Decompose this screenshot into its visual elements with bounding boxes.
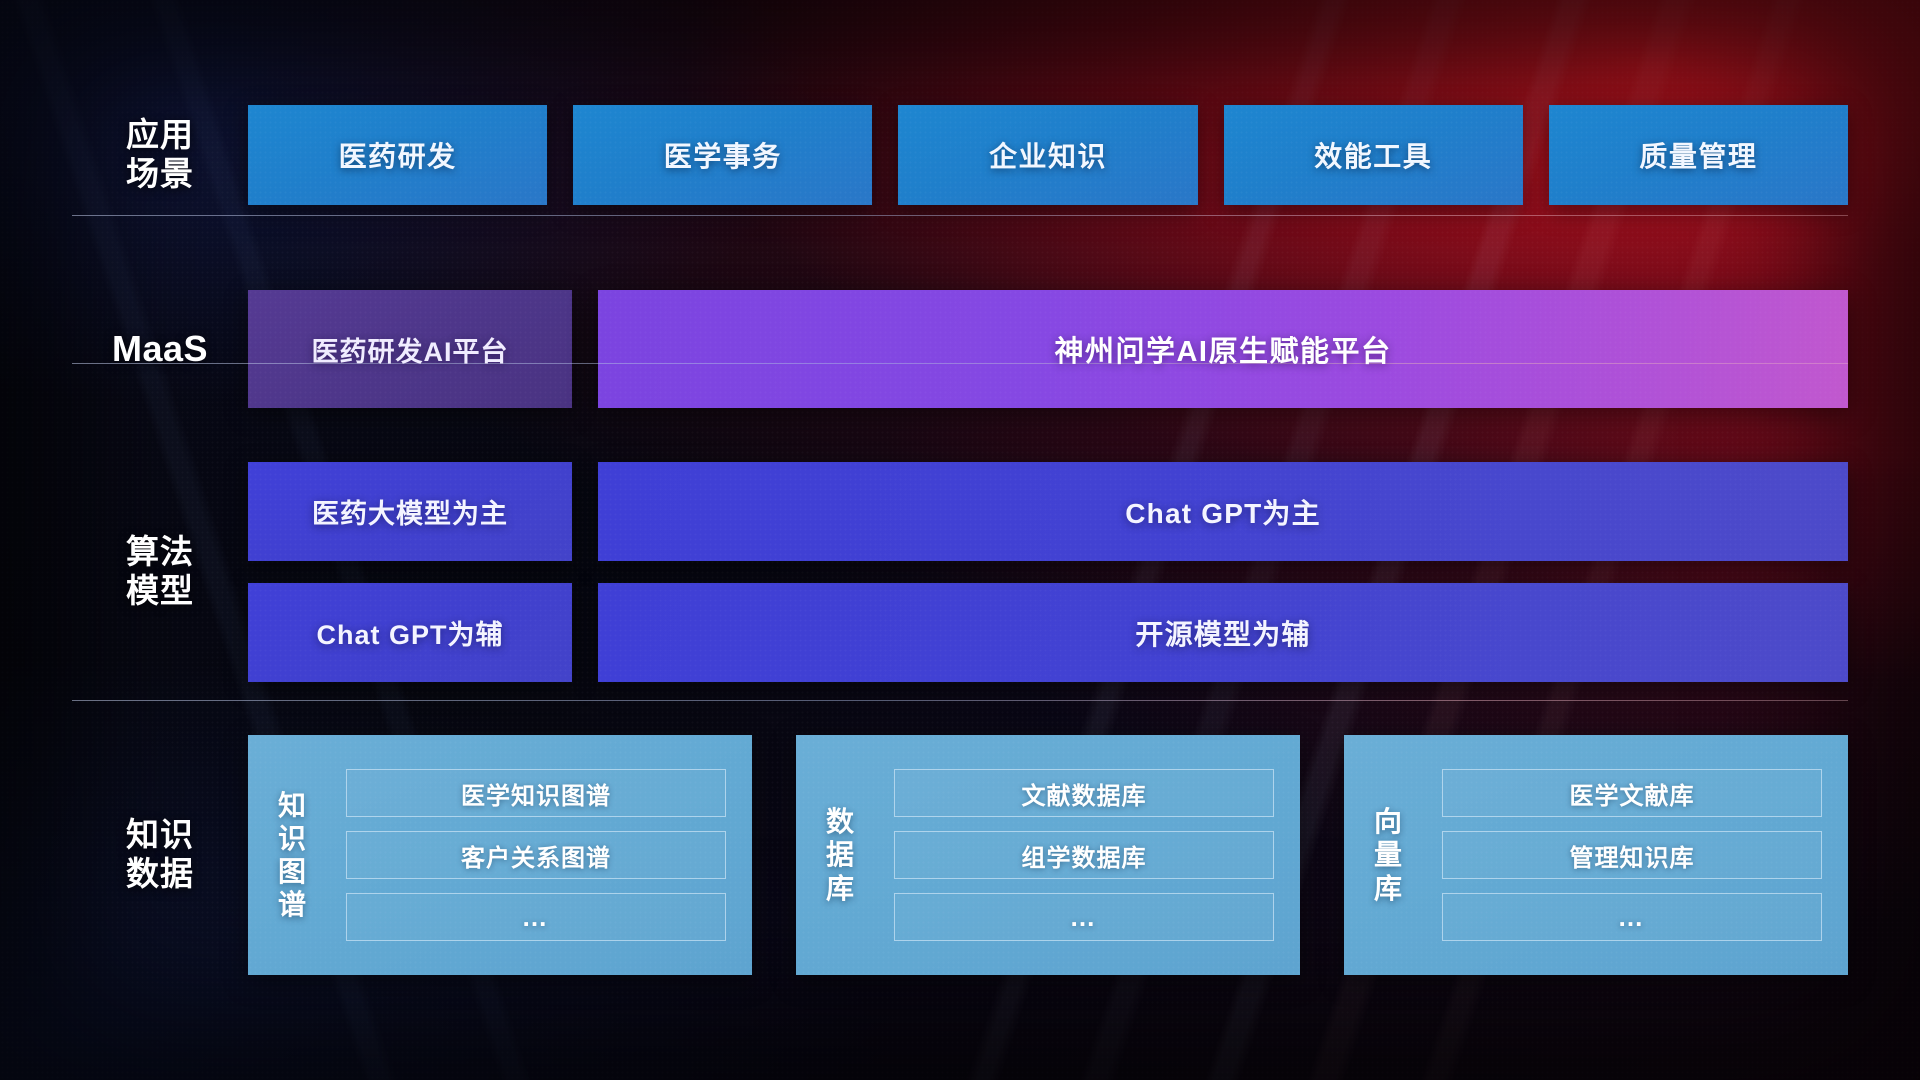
knowledge-group-vertical-label: 向 量 库 — [1344, 805, 1426, 904]
algorithm-line-primary: 医药大模型为主 Chat GPT为主 — [248, 462, 1848, 561]
knowledge-group-database[interactable]: 数 据 库 文献数据库 组学数据库 … — [796, 735, 1300, 975]
app-card-label: 效能工具 — [1314, 135, 1432, 175]
knowledge-item-more[interactable]: … — [346, 893, 726, 941]
divider-algorithm-knowledge — [72, 700, 1848, 701]
knowledge-group-items: 医学知识图谱 客户关系图谱 … — [330, 769, 752, 941]
app-card-drug-rd[interactable]: 医药研发 — [248, 105, 547, 205]
algo-card-label: Chat GPT为主 — [1125, 492, 1321, 532]
app-card-label: 医学事务 — [664, 135, 782, 175]
maas-card-shenzhou-wenxue-platform[interactable]: 神州问学AI原生赋能平台 — [598, 290, 1848, 408]
knowledge-group-vertical-label: 知 识 图 谱 — [248, 789, 330, 921]
app-card-efficiency-tools[interactable]: 效能工具 — [1224, 105, 1523, 205]
algo-card-opensource-secondary[interactable]: 开源模型为辅 — [598, 583, 1848, 682]
row-label-application-scenarios: 应用 场景 — [72, 116, 248, 194]
application-scenario-cards: 医药研发 医学事务 企业知识 效能工具 质量管理 — [248, 105, 1848, 205]
divider-applications-maas — [72, 215, 1848, 216]
knowledge-item-medical-knowledge-graph[interactable]: 医学知识图谱 — [346, 769, 726, 817]
knowledge-item-more[interactable]: … — [1442, 893, 1822, 941]
maas-card-label: 医药研发AI平台 — [312, 330, 509, 369]
algo-card-pharma-llm-primary[interactable]: 医药大模型为主 — [248, 462, 572, 561]
algorithm-model-cards: 医药大模型为主 Chat GPT为主 Chat GPT为辅 开源模型为辅 — [248, 462, 1848, 682]
maas-card-drug-rd-ai-platform[interactable]: 医药研发AI平台 — [248, 290, 572, 408]
knowledge-item-medical-literature-store[interactable]: 医学文献库 — [1442, 769, 1822, 817]
knowledge-data-groups: 知 识 图 谱 医学知识图谱 客户关系图谱 … 数 据 库 文献数据库 组学数据… — [248, 735, 1848, 975]
app-card-medical-affairs[interactable]: 医学事务 — [573, 105, 872, 205]
knowledge-item-customer-relation-graph[interactable]: 客户关系图谱 — [346, 831, 726, 879]
architecture-diagram: 应用 场景 医药研发 医学事务 企业知识 效能工具 质量管理 — [0, 0, 1920, 1080]
knowledge-item-management-knowledge-store[interactable]: 管理知识库 — [1442, 831, 1822, 879]
app-card-quality-management[interactable]: 质量管理 — [1549, 105, 1848, 205]
maas-cards: 医药研发AI平台 神州问学AI原生赋能平台 — [248, 290, 1848, 408]
algorithm-line-secondary: Chat GPT为辅 开源模型为辅 — [248, 583, 1848, 682]
row-knowledge-data: 知识 数据 知 识 图 谱 医学知识图谱 客户关系图谱 … 数 据 库 文献数据… — [72, 735, 1848, 975]
row-label-algorithm-models: 算法 模型 — [72, 533, 248, 611]
row-maas: MaaS 医药研发AI平台 神州问学AI原生赋能平台 — [72, 290, 1848, 408]
knowledge-item-omics-database[interactable]: 组学数据库 — [894, 831, 1274, 879]
knowledge-group-items: 医学文献库 管理知识库 … — [1426, 769, 1848, 941]
slide-canvas: 应用 场景 医药研发 医学事务 企业知识 效能工具 质量管理 — [0, 0, 1920, 1080]
algo-card-label: 医药大模型为主 — [312, 492, 508, 531]
row-application-scenarios: 应用 场景 医药研发 医学事务 企业知识 效能工具 质量管理 — [72, 105, 1848, 205]
algo-card-label: 开源模型为辅 — [1135, 613, 1310, 653]
knowledge-group-knowledge-graph[interactable]: 知 识 图 谱 医学知识图谱 客户关系图谱 … — [248, 735, 752, 975]
app-card-enterprise-knowledge[interactable]: 企业知识 — [898, 105, 1197, 205]
knowledge-item-more[interactable]: … — [894, 893, 1274, 941]
row-algorithm-models: 算法 模型 医药大模型为主 Chat GPT为主 Chat GPT为辅 开源模型… — [72, 462, 1848, 682]
algo-card-chatgpt-secondary[interactable]: Chat GPT为辅 — [248, 583, 572, 682]
knowledge-group-vector-store[interactable]: 向 量 库 医学文献库 管理知识库 … — [1344, 735, 1848, 975]
app-card-label: 质量管理 — [1639, 135, 1757, 175]
algo-card-label: Chat GPT为辅 — [316, 613, 503, 652]
row-label-knowledge-data: 知识 数据 — [72, 816, 248, 894]
algo-card-chatgpt-primary[interactable]: Chat GPT为主 — [598, 462, 1848, 561]
app-card-label: 医药研发 — [339, 135, 457, 175]
knowledge-group-vertical-label: 数 据 库 — [796, 805, 878, 904]
knowledge-group-items: 文献数据库 组学数据库 … — [878, 769, 1300, 941]
app-card-label: 企业知识 — [989, 135, 1107, 175]
maas-card-label: 神州问学AI原生赋能平台 — [1054, 328, 1391, 370]
knowledge-item-literature-database[interactable]: 文献数据库 — [894, 769, 1274, 817]
